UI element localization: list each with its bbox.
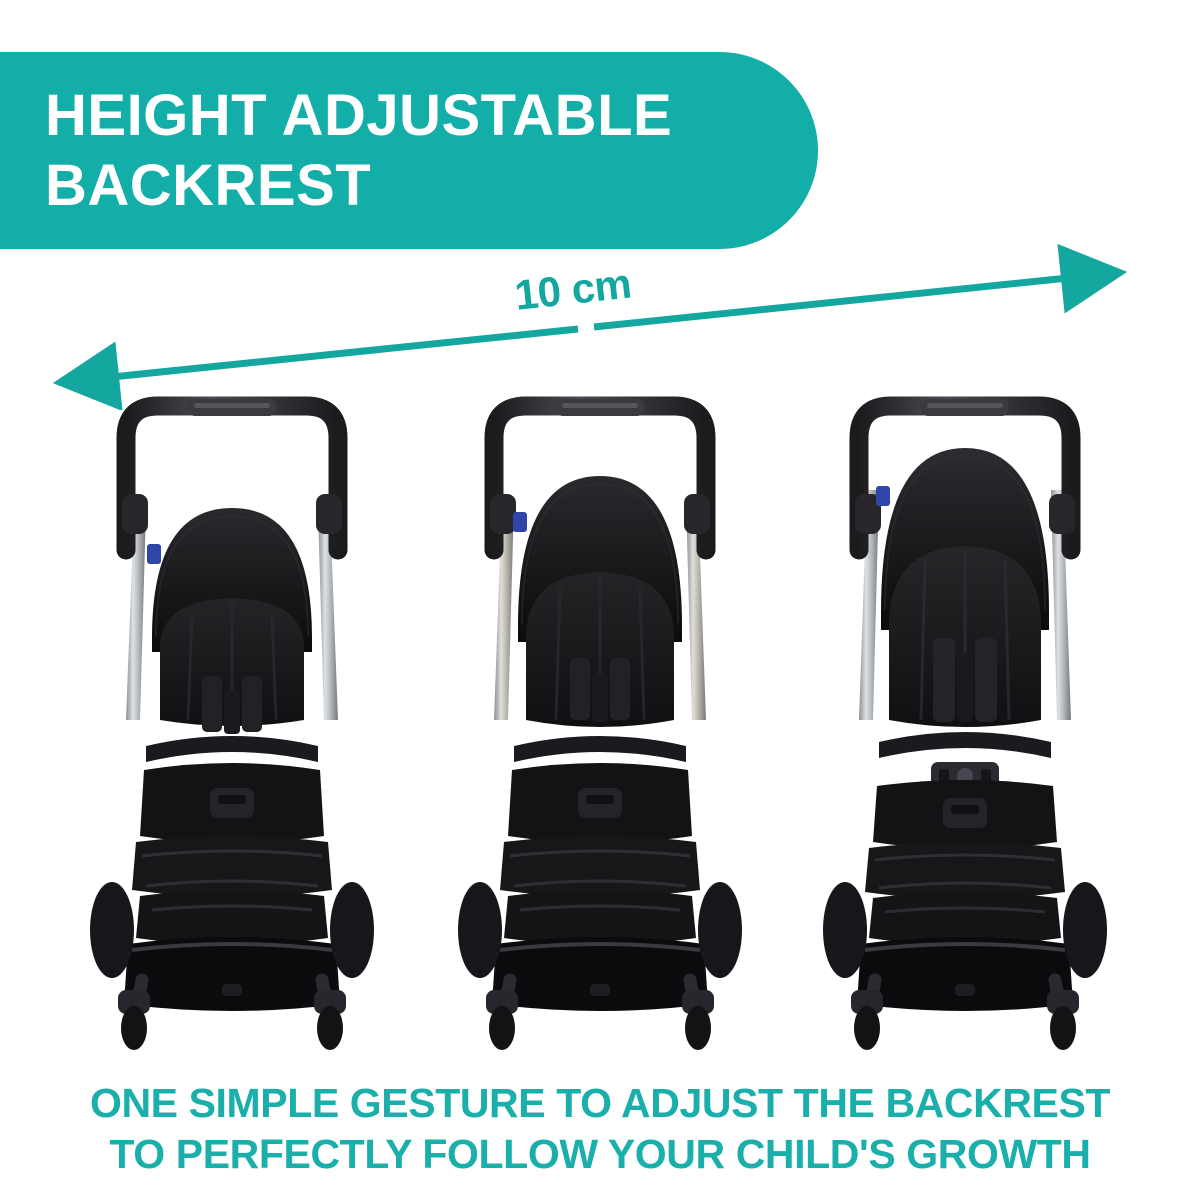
bumper-bar [146, 736, 318, 762]
seat-cushion [508, 763, 692, 843]
arrow-line-right [594, 278, 1068, 327]
seat-cushion [873, 780, 1057, 849]
stroller-comparison-row [0, 390, 1200, 1050]
bumper-bar [514, 736, 686, 762]
arrow-line-left [112, 329, 578, 377]
header-title-line2: BACKREST [45, 151, 818, 221]
storage-basket [124, 937, 340, 1011]
caption-line2: TO PERFECTLY FOLLOW YOUR CHILD'S GROWTH [0, 1129, 1200, 1180]
header-title-line1: HEIGHT ADJUSTABLE [45, 81, 818, 151]
seat-cushion [140, 763, 324, 843]
storage-basket [492, 937, 708, 1011]
brand-tag [513, 512, 527, 532]
caption-line1: ONE SIMPLE GESTURE TO ADJUST THE BACKRES… [0, 1078, 1200, 1129]
brand-tag [147, 544, 161, 564]
header-banner: HEIGHT ADJUSTABLE BACKREST [0, 52, 818, 249]
bottom-caption: ONE SIMPLE GESTURE TO ADJUST THE BACKRES… [0, 1078, 1200, 1180]
stroller-middle-backrest [450, 390, 750, 1050]
footrest [865, 842, 1065, 945]
bumper-bar [879, 732, 1051, 758]
stroller-lowest-backrest [82, 390, 382, 1050]
storage-basket [857, 937, 1073, 1011]
footrest [132, 836, 332, 945]
footrest [500, 836, 700, 945]
brand-tag [876, 486, 890, 506]
stroller-highest-backrest [815, 390, 1115, 1050]
